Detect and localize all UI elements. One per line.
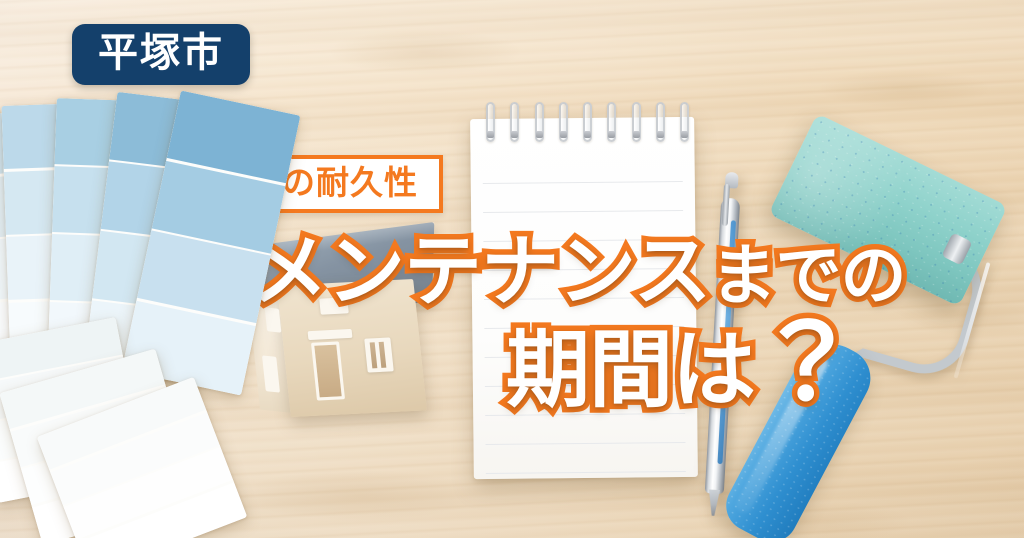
city-badge: 平塚市	[72, 24, 250, 85]
thumbnail-canvas: 平塚市 外壁塗装後の耐久性 次のメンテナンスまでの 期間は？	[0, 0, 1024, 538]
